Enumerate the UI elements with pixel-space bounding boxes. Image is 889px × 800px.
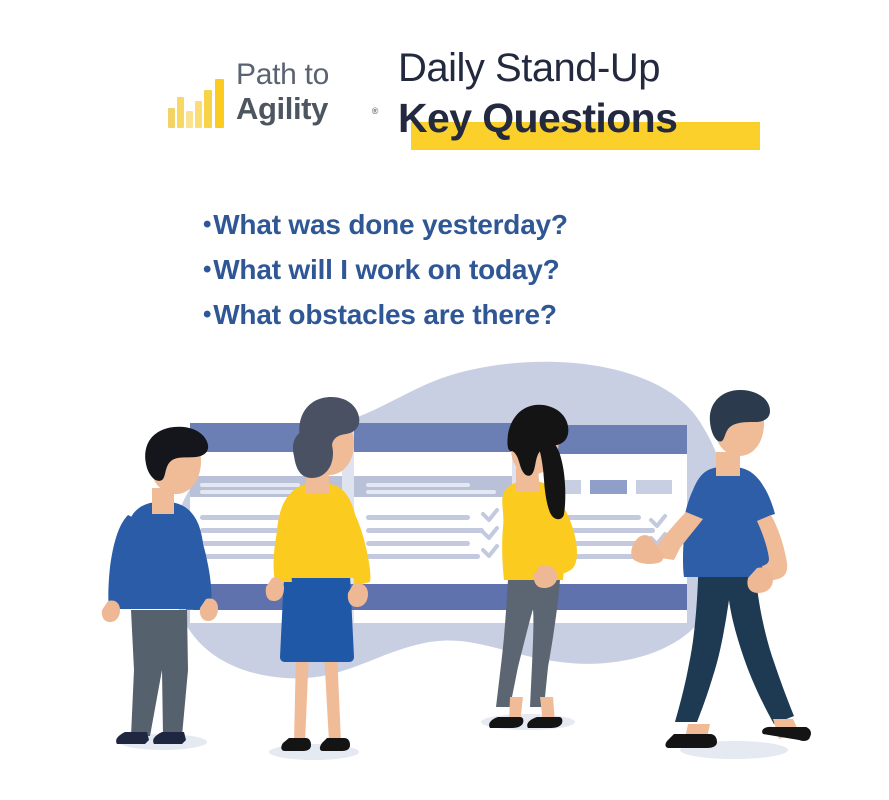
standup-illustration: Done Today Obstacles <box>0 352 889 800</box>
page-title: Daily Stand-Up Key Questions <box>398 44 818 146</box>
list-item: • What obstacles are there? <box>203 292 568 337</box>
logo-line-1: Path to <box>236 58 376 92</box>
list-item-label: What will I work on today? <box>213 247 559 292</box>
kanban-board <box>186 423 687 623</box>
bullet-dot-icon: • <box>203 202 211 247</box>
bullet-dot-icon: • <box>203 292 211 337</box>
logo-line-2: Agility ® <box>236 92 376 126</box>
list-item: • What will I work on today? <box>203 247 568 292</box>
list-item-label: What obstacles are there? <box>213 292 557 337</box>
list-item: • What was done yesterday? <box>203 202 568 247</box>
board-base-bar <box>186 584 687 610</box>
tag-chip <box>590 480 627 494</box>
poster-canvas: Path to Agility ® Daily Stand-Up Key Que… <box>0 0 889 800</box>
path-to-agility-logo: Path to Agility ® <box>168 58 368 136</box>
key-questions-list: • What was done yesterday? • What will I… <box>203 202 568 337</box>
title-line-2: Key Questions <box>398 94 818 142</box>
board-column-today-header <box>354 423 512 452</box>
registered-trademark-mark: ® <box>372 94 378 128</box>
title-line-1: Daily Stand-Up <box>398 44 818 92</box>
logo-line-2-text: Agility <box>236 91 328 126</box>
list-item-label: What was done yesterday? <box>213 202 568 247</box>
bullet-dot-icon: • <box>203 247 211 292</box>
bar-chart-logo-icon <box>168 78 230 128</box>
tag-chip <box>636 480 672 494</box>
title-line-2-wrapper: Key Questions <box>398 94 818 146</box>
